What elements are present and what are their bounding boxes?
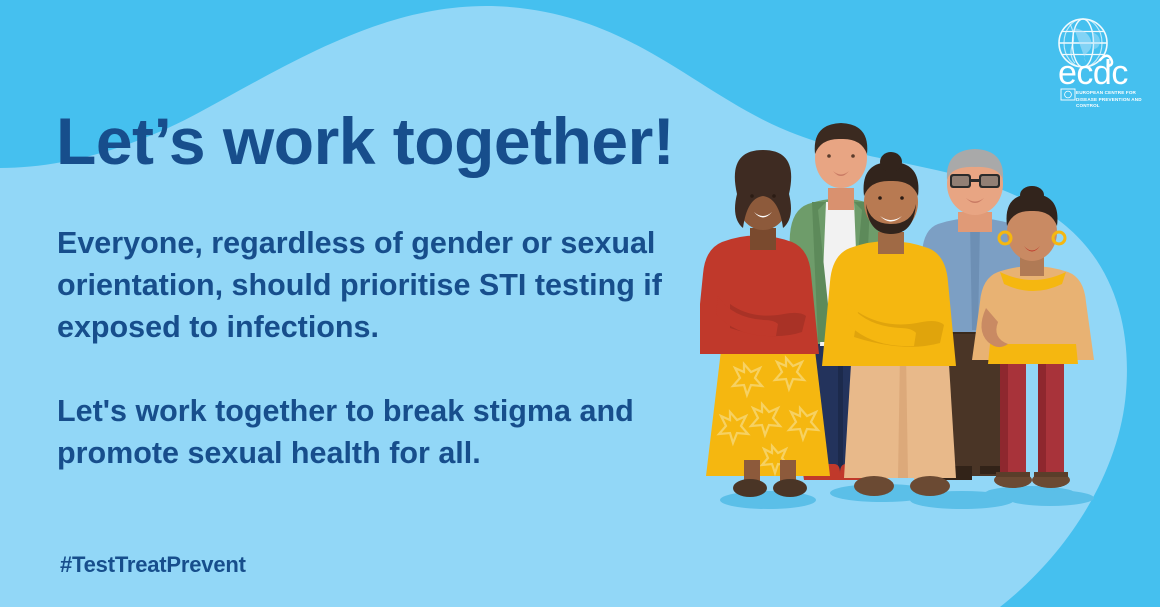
ecdc-wordmark: ecdc <box>1058 54 1128 92</box>
body-paragraph-1: Everyone, regardless of gender or sexual… <box>57 222 677 348</box>
page-title: Let’s work together! <box>56 108 674 174</box>
campaign-hashtag: #TestTreatPrevent <box>60 552 246 578</box>
group-of-five-people-illustration <box>700 96 1120 521</box>
body-paragraph-2: Let's work together to break stigma and … <box>57 390 677 474</box>
campaign-poster: Let’s work together! Everyone, regardles… <box>0 0 1160 607</box>
svg-text:ecdc: ecdc <box>1058 54 1128 92</box>
figure-woman-red-top <box>700 150 830 497</box>
